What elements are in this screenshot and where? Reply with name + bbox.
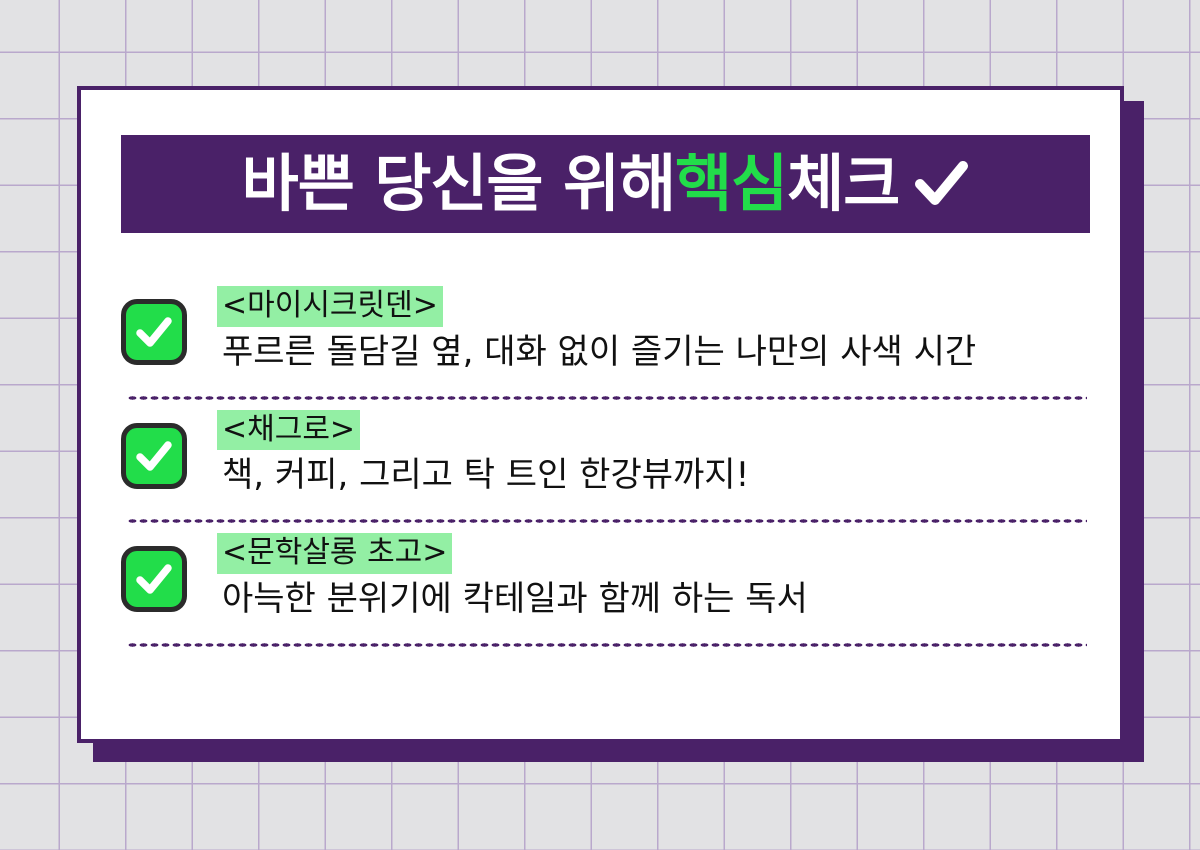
title-prefix: 바쁜 당신을 위해 bbox=[242, 153, 675, 215]
checkbox-checked-icon[interactable] bbox=[121, 546, 187, 612]
list-item[interactable]: <마이시크릿덴> 푸르른 돌담길 옆, 대화 없이 즐기는 나만의 사색 시간 bbox=[121, 286, 1090, 384]
title-banner: 바쁜 당신을 위해 핵심 체크 bbox=[121, 135, 1090, 233]
dotted-divider bbox=[127, 519, 1087, 523]
checkbox-wrap bbox=[121, 286, 217, 365]
list-item[interactable]: <문학살롱 초고> 아늑한 분위기에 칵테일과 함께 하는 독서 bbox=[121, 533, 1090, 631]
item-description: 책, 커피, 그리고 탁 트인 한강뷰까지! bbox=[217, 453, 1090, 497]
item-title: <채그로> bbox=[217, 410, 360, 451]
checkbox-wrap bbox=[121, 533, 217, 612]
item-description: 푸르른 돌담길 옆, 대화 없이 즐기는 나만의 사색 시간 bbox=[217, 330, 1090, 374]
dotted-divider bbox=[127, 396, 1087, 400]
item-text: <마이시크릿덴> 푸르른 돌담길 옆, 대화 없이 즐기는 나만의 사색 시간 bbox=[217, 286, 1090, 374]
list-item[interactable]: <채그로> 책, 커피, 그리고 탁 트인 한강뷰까지! bbox=[121, 410, 1090, 508]
item-description: 아늑한 분위기에 칵테일과 함께 하는 독서 bbox=[217, 577, 1090, 621]
checkbox-checked-icon[interactable] bbox=[121, 423, 187, 489]
checklist: <마이시크릿덴> 푸르른 돌담길 옆, 대화 없이 즐기는 나만의 사색 시간 … bbox=[121, 286, 1090, 647]
title-accent: 핵심 bbox=[675, 153, 787, 215]
poster-canvas: 바쁜 당신을 위해 핵심 체크 <마이시크 bbox=[0, 0, 1200, 850]
item-title: <마이시크릿덴> bbox=[217, 286, 443, 327]
title-text: 바쁜 당신을 위해 핵심 체크 bbox=[242, 153, 970, 215]
title-suffix: 체크 bbox=[787, 153, 899, 215]
checkbox-wrap bbox=[121, 410, 217, 489]
check-mark-icon bbox=[913, 156, 969, 212]
item-title: <문학살롱 초고> bbox=[217, 533, 452, 574]
item-text: <문학살롱 초고> 아늑한 분위기에 칵테일과 함께 하는 독서 bbox=[217, 533, 1090, 621]
item-text: <채그로> 책, 커피, 그리고 탁 트인 한강뷰까지! bbox=[217, 410, 1090, 498]
content-card: 바쁜 당신을 위해 핵심 체크 <마이시크 bbox=[77, 86, 1124, 743]
checkbox-checked-icon[interactable] bbox=[121, 299, 187, 365]
dotted-divider bbox=[127, 643, 1087, 647]
